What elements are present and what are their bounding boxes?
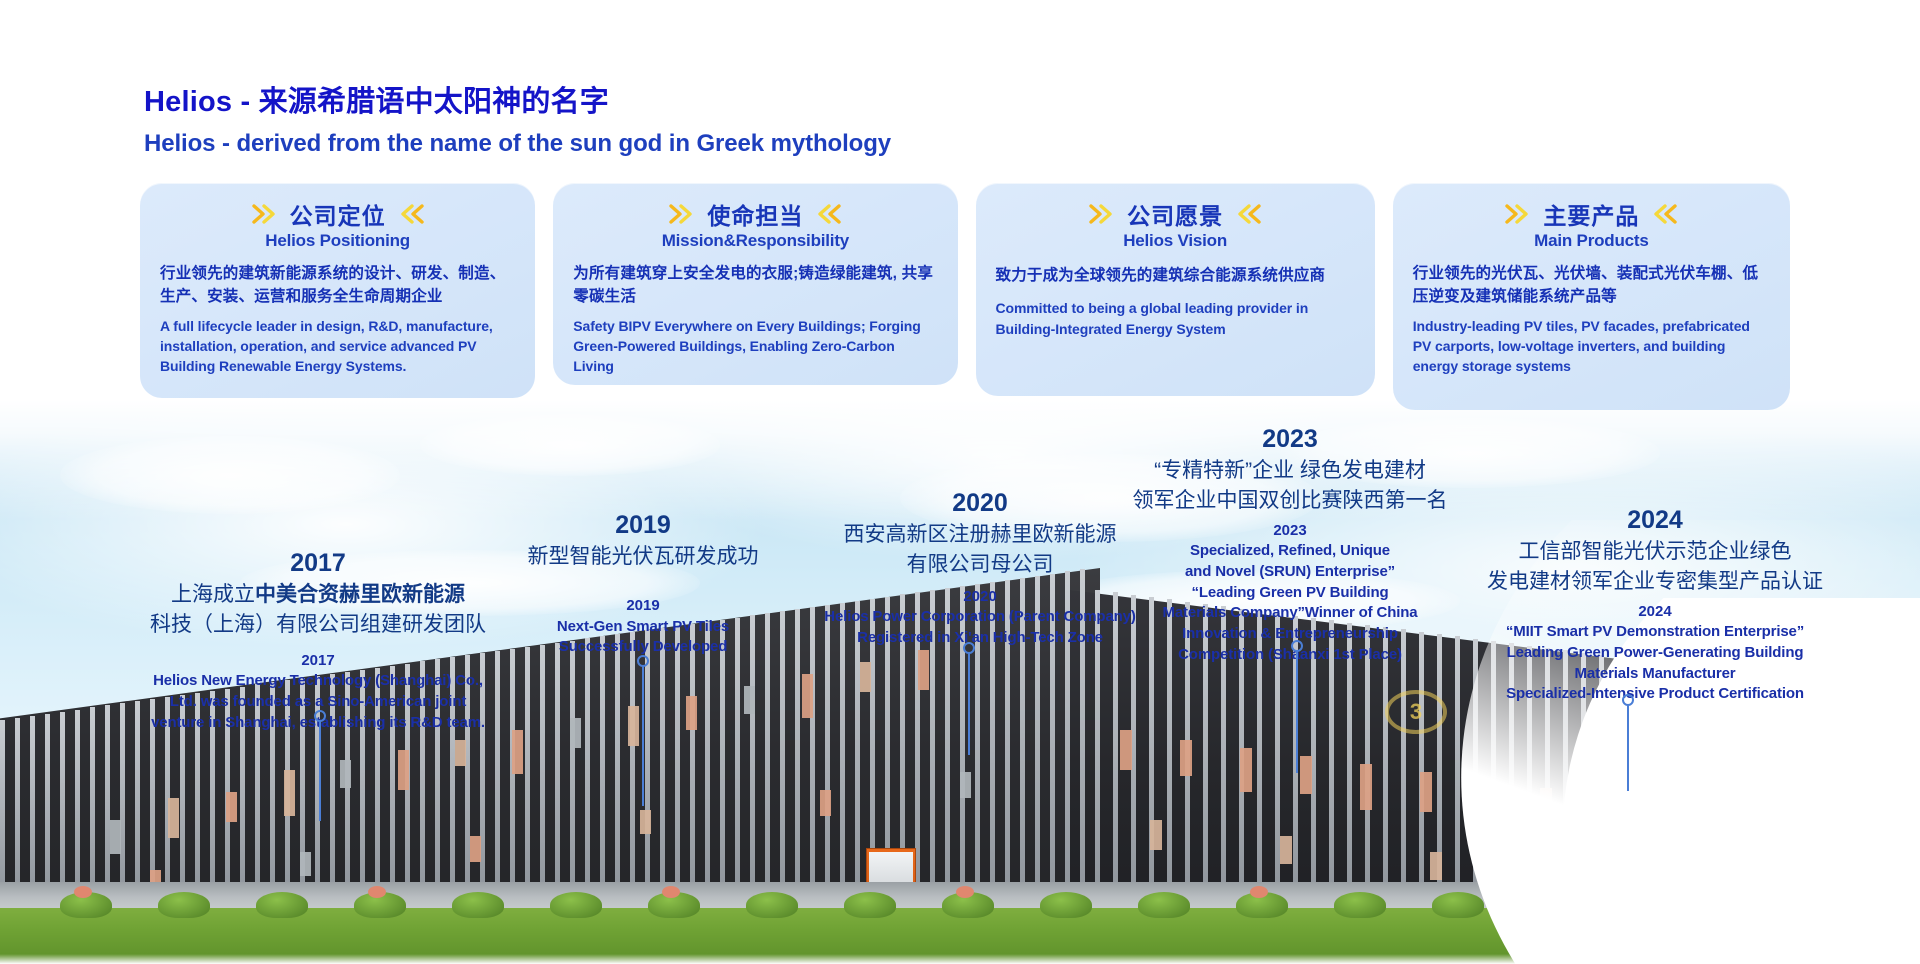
timeline-en-2019: Next-Gen Smart PV Tiles Successfully Dev…: [498, 617, 788, 658]
card-body-cn: 为所有建筑穿上安全发电的衣服;铸造绿能建筑, 共享零碳生活: [573, 262, 937, 309]
bottom-fade: [0, 954, 1920, 964]
bush: [550, 892, 602, 918]
chevron-left-double-icon: [1235, 204, 1261, 224]
timeline-en-2023: Specialized, Refined, Unique and Novel (…: [1125, 541, 1455, 665]
timeline-cn-2017: 上海成立中美合资赫里欧新能源 科技（上海）有限公司组建研发团队: [118, 580, 518, 641]
card-body-cn: 行业领先的光伏瓦、光伏墙、装配式光伏车棚、低压逆变及建筑储能系统产品等: [1413, 262, 1770, 309]
timeline-year-2020: 2020: [790, 488, 1170, 518]
container-lid: [869, 852, 913, 884]
chevron-left-double-icon: [815, 204, 841, 224]
bush: [1040, 892, 1092, 918]
facade-ring-mark: 3: [1385, 690, 1447, 734]
chevron-left-double-icon: [398, 204, 424, 224]
timeline-cn-2020: 西安高新区注册赫里欧新能源 有限公司母公司: [790, 520, 1170, 581]
timeline-en-2017: Helios New Energy Technology (Shanghai) …: [118, 671, 518, 733]
timeline-cn-2019: 新型智能光伏瓦研发成功: [498, 542, 788, 572]
card-body-en: A full lifecycle leader in design, R&D, …: [160, 316, 515, 377]
card-body-en: Industry-leading PV tiles, PV facades, p…: [1413, 316, 1770, 377]
info-card-row: 公司定位 Helios Positioning 行业领先的建筑新能源系统的设计、…: [140, 183, 1790, 410]
timeline-year-2023: 2023: [1125, 424, 1455, 454]
card-title-row: 公司愿景: [996, 199, 1355, 229]
timeline-year-en-2019: 2019: [498, 596, 788, 616]
chevron-right-double-icon: [1505, 204, 1531, 224]
card-subtitle-en: Main Products: [1413, 231, 1770, 251]
chevron-right-double-icon: [1089, 204, 1115, 224]
bush: [354, 892, 406, 918]
chevron-right-double-icon: [252, 204, 278, 224]
bush: [942, 892, 994, 918]
chevron-left-double-icon: [1651, 204, 1677, 224]
timeline-year-2019: 2019: [498, 510, 788, 540]
bush: [1432, 892, 1484, 918]
timeline-cn-2024: 工信部智能光伏示范企业绿色 发电建材领军企业专密集型产品认证: [1455, 537, 1855, 598]
timeline-item-2017[interactable]: 2017 上海成立中美合资赫里欧新能源 科技（上海）有限公司组建研发团队 201…: [118, 548, 518, 733]
timeline-item-2020[interactable]: 2020 西安高新区注册赫里欧新能源 有限公司母公司 2020 Helios P…: [790, 488, 1170, 649]
bush: [1236, 892, 1288, 918]
bush: [452, 892, 504, 918]
page-title-en: Helios - derived from the name of the su…: [144, 129, 891, 159]
timeline-en-2024: “MIIT Smart PV Demonstration Enterprise”…: [1455, 622, 1855, 705]
bush: [158, 892, 210, 918]
info-card-products[interactable]: 主要产品 Main Products 行业领先的光伏瓦、光伏墙、装配式光伏车棚、…: [1393, 183, 1790, 410]
bush: [746, 892, 798, 918]
info-card-vision[interactable]: 公司愿景 Helios Vision 致力于成为全球领先的建筑综合能源系统供应商…: [976, 183, 1375, 396]
bush: [648, 892, 700, 918]
chevron-right-double-icon: [669, 204, 695, 224]
timeline-item-2023[interactable]: 2023 “专精特新”企业 绿色发电建材 领军企业中国双创比赛陕西第一名 202…: [1125, 424, 1455, 665]
card-subtitle-en: Mission&Responsibility: [573, 231, 937, 251]
timeline-year-en-2023: 2023: [1125, 521, 1455, 541]
card-title-row: 主要产品: [1413, 199, 1770, 229]
card-subtitle-en: Helios Positioning: [160, 231, 515, 251]
timeline-item-2024[interactable]: 2024 工信部智能光伏示范企业绿色 发电建材领军企业专密集型产品认证 2024…: [1455, 505, 1855, 705]
card-title-row: 公司定位: [160, 199, 515, 229]
info-card-mission[interactable]: 使命担当 Mission&Responsibility 为所有建筑穿上安全发电的…: [553, 183, 957, 385]
page-title-cn: Helios - 来源希腊语中太阳神的名字: [144, 84, 891, 120]
card-body-en: Committed to being a global leading prov…: [996, 298, 1355, 339]
timeline-item-2019[interactable]: 2019 新型智能光伏瓦研发成功 2019 Next-Gen Smart PV …: [498, 510, 788, 658]
timeline-year-en-2020: 2020: [790, 587, 1170, 607]
timeline-year-en-2017: 2017: [118, 651, 518, 671]
card-subtitle-en: Helios Vision: [996, 231, 1355, 251]
timeline-year-2017: 2017: [118, 548, 518, 578]
timeline-year-en-2024: 2024: [1455, 602, 1855, 622]
bush: [60, 892, 112, 918]
card-body-cn: 行业领先的建筑新能源系统的设计、研发、制造、生产、安装、运营和服务全生命周期企业: [160, 262, 515, 309]
bush: [844, 892, 896, 918]
facade-ring-label: 3: [1410, 699, 1422, 725]
card-title-cn: 公司定位: [290, 197, 386, 231]
info-card-positioning[interactable]: 公司定位 Helios Positioning 行业领先的建筑新能源系统的设计、…: [140, 183, 535, 398]
card-title-cn: 使命担当: [707, 197, 803, 231]
card-body-en: Safety BIPV Everywhere on Every Building…: [573, 316, 937, 377]
timeline-en-2020: Helios Power Corporation (Parent Company…: [790, 607, 1170, 648]
card-title-cn: 公司愿景: [1127, 197, 1223, 231]
timeline-year-2024: 2024: [1455, 505, 1855, 535]
card-title-cn: 主要产品: [1543, 197, 1639, 231]
bush: [1334, 892, 1386, 918]
page-title-block: Helios - 来源希腊语中太阳神的名字 Helios - derived f…: [144, 84, 891, 159]
card-title-row: 使命担当: [573, 199, 937, 229]
card-body-cn: 致力于成为全球领先的建筑综合能源系统供应商: [996, 264, 1355, 287]
bush: [1138, 892, 1190, 918]
timeline-cn-2023: “专精特新”企业 绿色发电建材 领军企业中国双创比赛陕西第一名: [1125, 456, 1455, 517]
bush: [256, 892, 308, 918]
